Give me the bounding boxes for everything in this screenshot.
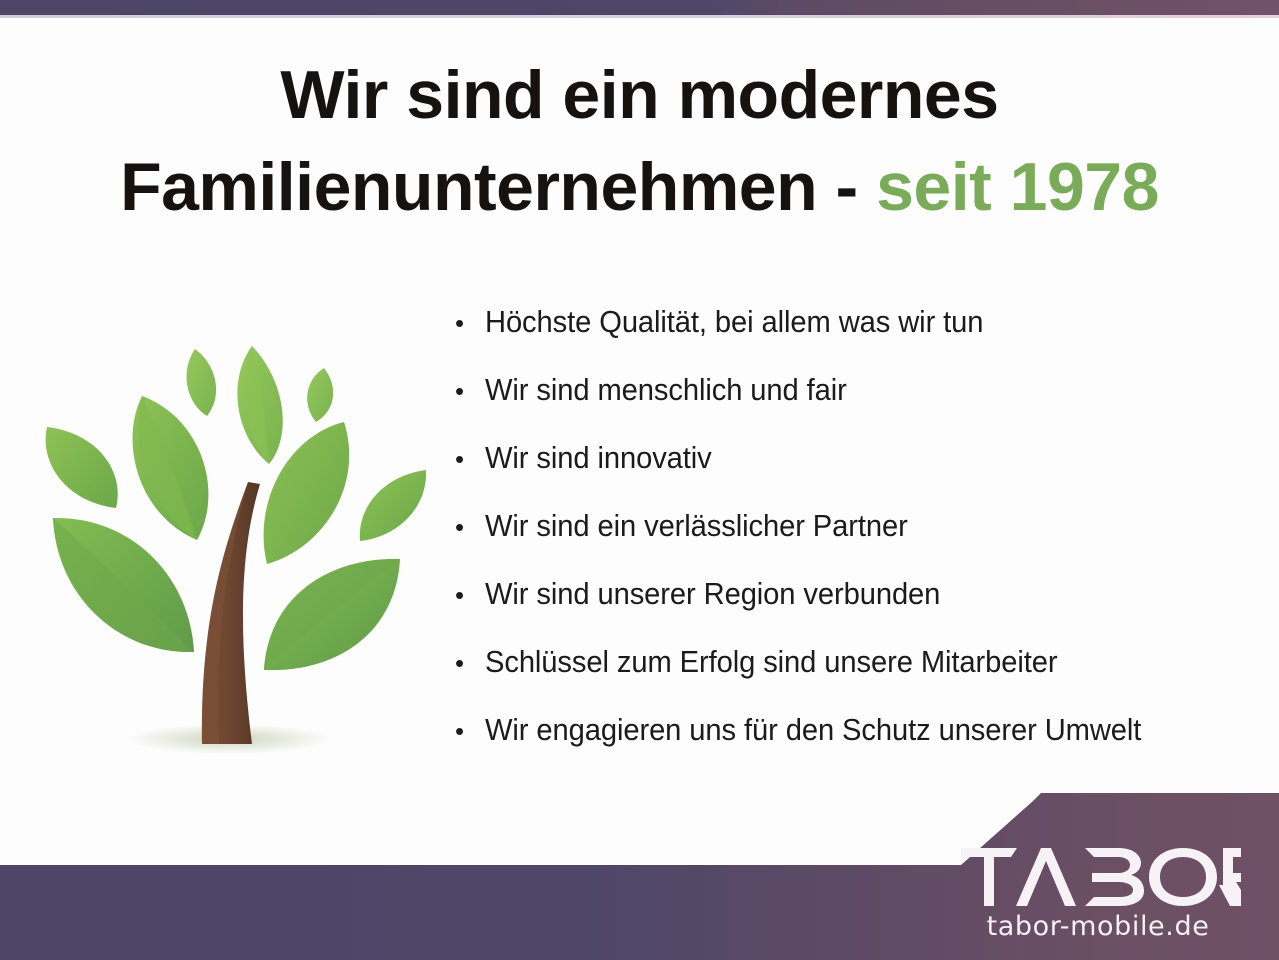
heading-line-2-prefix: Familienunternehmen - — [120, 149, 876, 225]
bullet-dot-icon: • — [455, 378, 485, 404]
top-accent-hairline — [0, 15, 1279, 18]
list-item-label: Schlüssel zum Erfolg sind unsere Mitarbe… — [485, 644, 1228, 680]
list-item-label: Wir sind ein verlässlicher Partner — [485, 508, 1228, 544]
list-item: • Wir sind innovativ — [455, 440, 1275, 508]
bullet-dot-icon: • — [455, 514, 485, 540]
tabor-wordmark — [961, 847, 1241, 907]
list-item: • Wir sind unserer Region verbunden — [455, 576, 1275, 644]
bullet-dot-icon: • — [455, 718, 485, 744]
bullet-dot-icon: • — [455, 650, 485, 676]
tree-leaf-5 — [46, 427, 118, 508]
list-item-label: Höchste Qualität, bei allem was wir tun — [485, 304, 1228, 340]
heading-line-2: Familienunternehmen - seit 1978 — [0, 144, 1279, 230]
tabor-logo-url: tabor-mobile.de — [955, 911, 1245, 942]
tree-leaf-3 — [307, 368, 333, 422]
list-item: • Höchste Qualität, bei allem was wir tu… — [455, 304, 1275, 372]
tree-leaf-7 — [360, 470, 426, 541]
list-item-label: Wir sind innovativ — [485, 440, 1228, 476]
heading-accent-year: seit 1978 — [876, 149, 1159, 225]
list-item-label: Wir sind menschlich und fair — [485, 372, 1228, 408]
tree-leaf-1 — [186, 349, 216, 416]
top-accent-bar — [0, 0, 1279, 15]
tabor-logo: tabor-mobile.de — [955, 847, 1245, 942]
list-item: • Wir engagieren uns für den Schutz unse… — [455, 712, 1275, 780]
list-item: • Schlüssel zum Erfolg sind unsere Mitar… — [455, 644, 1275, 712]
heading-line-1: Wir sind ein modernes — [0, 52, 1279, 138]
slide-canvas: Wir sind ein modernes Familienunternehme… — [0, 0, 1279, 960]
list-item-label: Wir sind unserer Region verbunden — [485, 576, 1228, 612]
tree-illustration — [24, 332, 444, 768]
bullet-dot-icon: • — [455, 310, 485, 336]
value-bullet-list: • Höchste Qualität, bei allem was wir tu… — [455, 304, 1275, 780]
list-item: • Wir sind ein verlässlicher Partner — [455, 508, 1275, 576]
slide-heading: Wir sind ein modernes Familienunternehme… — [0, 52, 1279, 230]
bullet-dot-icon: • — [455, 582, 485, 608]
list-item: • Wir sind menschlich und fair — [455, 372, 1275, 440]
bullet-dot-icon: • — [455, 446, 485, 472]
list-item-label: Wir engagieren uns für den Schutz unsere… — [485, 712, 1228, 748]
